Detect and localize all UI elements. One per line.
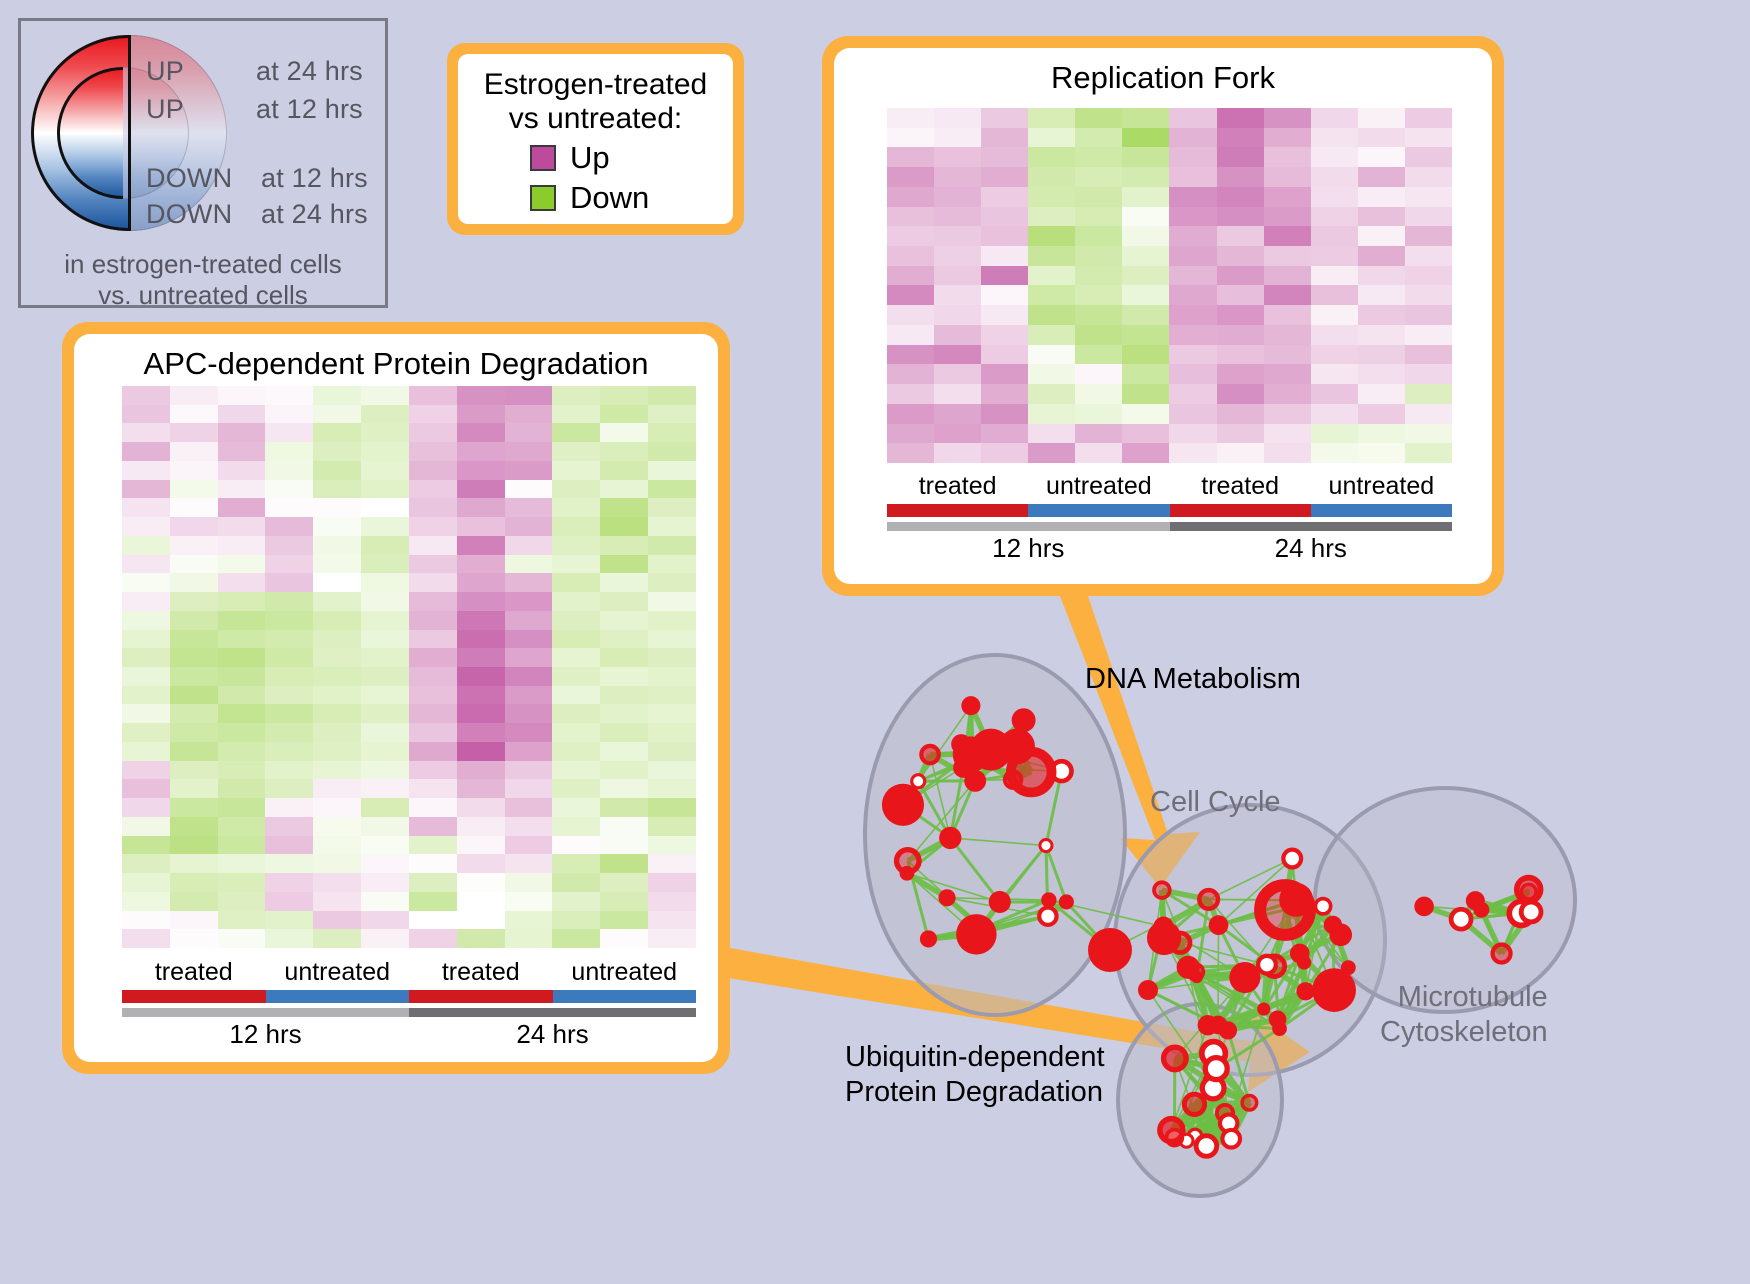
heatmap-cell [313,555,361,574]
heatmap-cell [1217,384,1264,404]
network-node [938,889,955,906]
heatmap-cell [1358,147,1405,167]
heatmap-cell [552,536,600,555]
heatmap-cell [265,686,313,705]
heatmap-cell [361,480,409,499]
heatmap-cell [122,798,170,817]
heatmap-cell [1075,266,1122,286]
heatmap-cell [1169,285,1216,305]
heatmap-cell [600,742,648,761]
network-node [961,696,980,715]
heatmap-cell [1169,404,1216,424]
heatmap-cell [361,742,409,761]
heatmap-cell [218,405,266,424]
updown-color-legend: Estrogen-treated vs untreated: Up Down [447,43,744,235]
heatmap-cell [505,779,553,798]
heatmap-cell [265,405,313,424]
timepoint-color-bar [887,522,1452,531]
heatmap-cell [218,498,266,517]
heatmap-cell [648,854,696,873]
heatmap-cell [409,423,457,442]
heatmap-cell [1028,226,1075,246]
heatmap-cell [313,480,361,499]
network-node [1040,840,1052,852]
heatmap-cell [934,305,981,325]
heatmap-cell [1311,404,1358,424]
heatmap-cell [981,325,1028,345]
heatmap-cell [313,779,361,798]
heatmap-cell [361,892,409,911]
heatmap-cell [505,686,553,705]
heatmap-cell [1358,108,1405,128]
heatmap-cell [170,686,218,705]
timepoint-label: 24 hrs [409,1019,696,1050]
header-line-2: vs untreated: [468,102,723,136]
network-node [1160,1119,1183,1142]
heatmap-cell [887,345,934,365]
heatmap-cell [170,779,218,798]
heatmap-cell [648,480,696,499]
heatmap-cell [648,517,696,536]
heatmap-cell [505,929,553,948]
heatmap-cell [409,405,457,424]
heatmap-cell [981,187,1028,207]
heatmap-cell [170,461,218,480]
heatmap-cell [1264,424,1311,444]
heatmap-cell [600,461,648,480]
divider-line [128,35,131,231]
heatmap-cell [1358,226,1405,246]
heatmap-cell [409,723,457,742]
heatmap-cell [552,611,600,630]
heatmap-cell [1217,305,1264,325]
heatmap-cell [457,423,505,442]
heatmap-cell [409,761,457,780]
heatmap-cell [361,648,409,667]
heatmap-cell [457,704,505,723]
heatmap-cell [600,929,648,948]
cluster-label-cell-cycle: Cell Cycle [1150,785,1281,820]
caption-line-1: in estrogen-treated cells [21,249,385,280]
heatmap-cell [552,854,600,873]
key-direction-0: UP [146,56,184,87]
network-node [1138,980,1158,1000]
heatmap-cell [934,187,981,207]
heatmap-cell [265,592,313,611]
heatmap-cell [981,207,1028,227]
heatmap-cell [122,742,170,761]
heatmap-cell [313,461,361,480]
heatmap-cell [600,498,648,517]
heatmap-cell [218,573,266,592]
heatmap-cell [122,461,170,480]
heatmap-cell [1028,404,1075,424]
heatmap-cell [887,404,934,424]
heatmap-cell [122,517,170,536]
heatmap-cell [313,573,361,592]
heatmap-cell [409,798,457,817]
heatmap-cell [409,592,457,611]
heatmap-cell [457,798,505,817]
network-node [912,775,925,788]
heatmap-cell [265,611,313,630]
network-node [1451,909,1471,929]
network-node [921,746,938,763]
heatmap-cell [1169,108,1216,128]
heatmap-cell [1264,384,1311,404]
heatmap-cell [648,798,696,817]
heatmap-cell [457,611,505,630]
heatmap-cell [218,423,266,442]
heatmap-cell [1075,325,1122,345]
heatmap-cell [122,854,170,873]
heatmap-cell [265,761,313,780]
axis-group-label: untreated [266,958,410,987]
heatmap-cell [313,723,361,742]
heatmap-cell [218,686,266,705]
heatmap-cell [1169,345,1216,365]
heatmap-cell [122,498,170,517]
heatmap-cell [457,461,505,480]
heatmap-cell [552,761,600,780]
heatmap-cell [934,364,981,384]
cluster-label-ubiquitin: Ubiquitin-dependent Protein Degradation [845,1040,1105,1110]
heatmap-cell [218,854,266,873]
heatmap-cell [505,555,553,574]
cluster-label-dna-metabolism: DNA Metabolism [1085,662,1301,697]
heatmap-cell [648,442,696,461]
heatmap-cell [457,892,505,911]
heatmap-cell [1075,305,1122,325]
heatmap-cell [552,498,600,517]
heatmap-cell [409,817,457,836]
heatmap-cell [409,892,457,911]
heatmap-cell [1122,266,1169,286]
network-node [1041,892,1056,907]
network-node [1147,921,1181,955]
heatmap-cell [218,742,266,761]
heatmap-cell [1311,285,1358,305]
heatmap-cell [457,873,505,892]
heatmap-cell [934,108,981,128]
heatmap-cell [1122,325,1169,345]
heatmap-cell [887,128,934,148]
network-node [1258,956,1276,974]
heatmap-cell [1264,207,1311,227]
heatmap-cell [218,480,266,499]
heatmap-cell [552,667,600,686]
panel-apc-degradation: APC-dependent Protein Degradation treate… [62,322,730,1074]
heatmap-cell [1405,207,1452,227]
heatmap-cell [457,648,505,667]
heatmap-cell [313,423,361,442]
heatmap-cell [552,742,600,761]
heatmap-cell [887,207,934,227]
heatmap-cell [648,573,696,592]
key-direction-1: UP [146,94,184,125]
heatmap-cell [1358,443,1405,463]
heatmap-cell [361,517,409,536]
heatmap-cell [122,611,170,630]
heatmap-cell [313,892,361,911]
heatmap-cell [313,536,361,555]
heatmap-cell [170,405,218,424]
heatmap-cell [170,854,218,873]
heatmap-cell [1217,167,1264,187]
network-node [1059,894,1074,909]
heatmap-cell [1311,207,1358,227]
heatmap-cell [1405,364,1452,384]
heatmap-cell [600,536,648,555]
heatmap-cell [170,667,218,686]
heatmap-cell [648,592,696,611]
heatmap-cell [170,498,218,517]
heatmap-cell [648,536,696,555]
heatmap-cell [409,386,457,405]
heatmap-cell [1169,305,1216,325]
heatmap-cell [887,443,934,463]
network-node [920,930,937,947]
heatmap-cell [1264,305,1311,325]
heatmap-cell [1217,207,1264,227]
heatmap-cell [1075,108,1122,128]
heatmap-cell [170,480,218,499]
axis-group-label: untreated [553,958,697,987]
heatmap-cell [648,667,696,686]
heatmap-cell [122,442,170,461]
heatmap-cell [1264,364,1311,384]
heatmap-cell [1311,147,1358,167]
heatmap-cell [552,873,600,892]
heatmap-cell [218,836,266,855]
heatmap-cell [1311,305,1358,325]
heatmap-cell [361,798,409,817]
heatmap-cell [313,648,361,667]
heatmap-cell [409,929,457,948]
heatmap-cell [505,742,553,761]
heatmap-cell [265,536,313,555]
heatmap-cell [1169,325,1216,345]
heatmap-cell [887,266,934,286]
network-node [1219,1021,1237,1039]
heatmap-cell [361,423,409,442]
heatmap-cell [170,630,218,649]
heatmap-cell [552,892,600,911]
heatmap-cell [1169,128,1216,148]
heatmap-cell [1075,364,1122,384]
heatmap-cell [1169,424,1216,444]
heatmap-cell [170,911,218,930]
heatmap-cell [457,667,505,686]
heatmap-cell [1358,246,1405,266]
axis-group-label: untreated [1311,472,1452,501]
heatmap-cell [1028,325,1075,345]
heatmap-cell [1405,147,1452,167]
heatmap-cell [218,555,266,574]
network-node [1521,884,1536,899]
up-swatch-icon [530,145,556,171]
heatmap-cell [552,723,600,742]
heatmap-cell [1122,345,1169,365]
heatmap-cell [1405,246,1452,266]
heatmap-cell [600,911,648,930]
heatmap-cell [552,386,600,405]
heatmap-cell [1122,424,1169,444]
heatmap-cell [934,207,981,227]
heatmap-cell [457,686,505,705]
heatmap-cell [1122,147,1169,167]
heatmap-cell [981,305,1028,325]
heatmap-cell [1264,266,1311,286]
axis-group-label: treated [1170,472,1311,501]
heatmap-cell [505,573,553,592]
network-node [1521,902,1541,922]
heatmap-cell [218,461,266,480]
heatmap-cell [600,573,648,592]
heatmap-cell [170,761,218,780]
heatmap-cell [1075,226,1122,246]
network-node [1242,1095,1257,1110]
heatmap-cell [1028,147,1075,167]
heatmap-cell [265,386,313,405]
heatmap-cell [600,611,648,630]
heatmap-cell [505,461,553,480]
heatmap-cell [1311,246,1358,266]
heatmap-cell [981,364,1028,384]
heatmap-cell [934,128,981,148]
heatmap-cell [170,892,218,911]
heatmap-cell [122,386,170,405]
heatmap-cell [1311,384,1358,404]
heatmap-cell [1169,364,1216,384]
heatmap-cell [600,704,648,723]
heatmap-cell [600,892,648,911]
heatmap-cell [265,480,313,499]
network-node [964,770,986,792]
heatmap-cell [313,836,361,855]
heatmap-cell [265,498,313,517]
network-node [1199,890,1218,909]
heatmap-cell [1217,108,1264,128]
heatmap-cell [887,246,934,266]
heatmap-cell [361,929,409,948]
heatmap-cell [1358,404,1405,424]
heatmap-cell [265,648,313,667]
heatmap-cell [122,423,170,442]
heatmap-cell [409,779,457,798]
key-time-2: at 12 hrs [261,163,368,194]
heatmap-cell [981,404,1028,424]
key-direction-2: DOWN [146,163,232,194]
heatmap-cell [505,648,553,667]
heatmap-cell [457,723,505,742]
heatmap-cell [1405,305,1452,325]
heatmap-cell [934,226,981,246]
heatmap-cell [313,630,361,649]
heatmap-cell [934,147,981,167]
heatmap-cell [313,742,361,761]
heatmap-cell [1075,207,1122,227]
heatmap-cell [505,817,553,836]
heatmap-cell [505,480,553,499]
heatmap-cell [218,892,266,911]
heatmap-cell [170,742,218,761]
network-node [1341,960,1356,975]
heatmap-cell [1122,364,1169,384]
heatmap-cell [1264,108,1311,128]
heatmap-cell [170,386,218,405]
heatmap-cell [457,817,505,836]
network-node [1222,1130,1240,1148]
heatmap-cell [265,929,313,948]
heatmap-cell [600,555,648,574]
heatmap-cell [600,798,648,817]
heatmap-cell [218,761,266,780]
up-label: Up [570,140,610,176]
heatmap-cell [409,536,457,555]
heatmap-cell [648,873,696,892]
heatmap-cell [1264,226,1311,246]
heatmap-cell [313,817,361,836]
heatmap-cell [313,873,361,892]
heatmap-cell [552,480,600,499]
heatmap-cell [313,911,361,930]
heatmap-cell [1311,108,1358,128]
heatmap-cell [648,779,696,798]
heatmap-cell [361,779,409,798]
heatmap-cell [218,630,266,649]
heatmap-cell [1311,128,1358,148]
treatment-color-bar [887,504,1452,517]
heatmap-cell [505,630,553,649]
heatmap-cell [218,667,266,686]
heatmap-cell [1217,364,1264,384]
heatmap-cell [170,648,218,667]
heatmap-cell [1122,207,1169,227]
heatmap-cell [1217,128,1264,148]
heatmap-cell [313,854,361,873]
heatmap-cell [1122,443,1169,463]
heatmap-cell [409,854,457,873]
heatmap-cell [505,611,553,630]
heatmap-cell [1358,325,1405,345]
heatmap-cell [1405,443,1452,463]
heatmap-cell [934,384,981,404]
heatmap-cell [457,836,505,855]
heatmap-cell [122,892,170,911]
heatmap-cell [122,648,170,667]
network-node [1466,891,1485,910]
heatmap-cell [218,592,266,611]
heatmap-cell [361,630,409,649]
heatmap-cell [1075,147,1122,167]
heatmap-cell [1405,325,1452,345]
heatmap-cell [122,555,170,574]
network-node [1229,962,1260,993]
heatmap-cell [1217,424,1264,444]
heatmap-cell [313,442,361,461]
heatmap-cell [361,761,409,780]
network-node [1196,1136,1217,1157]
heatmap-cell [505,667,553,686]
heatmap-cell [648,723,696,742]
heatmap-cell [600,836,648,855]
heatmap-cell [457,592,505,611]
heatmap-cell [1122,285,1169,305]
heatmap-cell [265,798,313,817]
heatmap-cell [361,498,409,517]
heatmap-cell [1264,187,1311,207]
